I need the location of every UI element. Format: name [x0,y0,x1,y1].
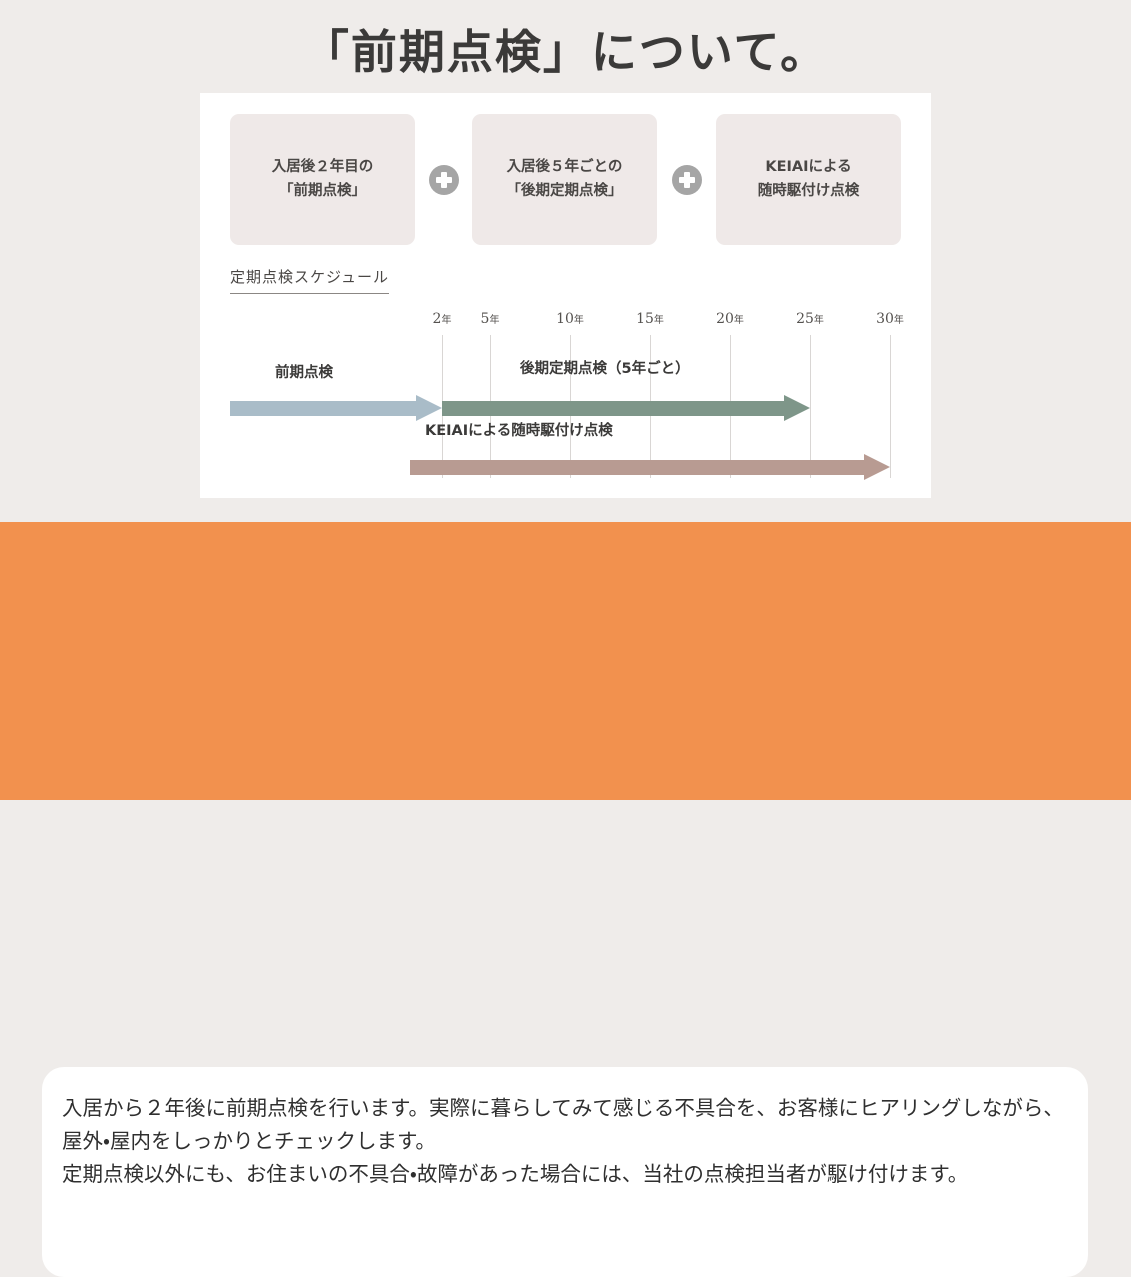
description-card: 入居から２年後に前期点検を行います。実際に暮らしてみて感じる不具合を、お客様にヒ… [42,1067,1088,1277]
schedule-timeline: 2年5年10年15年20年25年30年 前期点検後期定期点検（5年ごと）KEIA… [230,311,901,478]
page-title: 「前期点検」について。 [0,16,1131,82]
feature-box-row: 入居後２年目の 「前期点検」 入居後５年ごとの 「後期定期点検」 KEIAIによ… [230,114,901,245]
timeline-arrow [230,395,442,421]
feature-box-3-line2: 随時駆付け点検 [758,183,860,199]
diagram-panel: 入居後２年目の 「前期点検」 入居後５年ごとの 「後期定期点検」 KEIAIによ… [200,93,931,498]
plus-icon [672,165,702,195]
timeline-tick-label: 10年 [556,311,584,327]
timeline-tick-line [890,335,891,478]
feature-box-periodic-inspection: 入居後５年ごとの 「後期定期点検」 [472,114,657,245]
timeline-tick-label: 15年 [636,311,664,327]
feature-box-1-line1: 入居後２年目の [272,159,374,175]
arrow-shaft [410,460,864,475]
arrow-head [784,395,810,421]
description-band: 入居から２年後に前期点検を行います。実際に暮らしてみて感じる不具合を、お客様にヒ… [0,522,1131,800]
schedule-heading: 定期点検スケジュール [230,266,389,294]
arrow-head [416,395,442,421]
feature-box-1-line2: 「前期点検」 [279,183,366,199]
timeline-tick-label: 25年 [796,311,824,327]
feature-box-2-line2: 「後期定期点検」 [507,183,623,199]
timeline-arrow [442,395,810,421]
timeline-arrow-label: KEIAIによる随時駆付け点検 [425,419,613,440]
timeline-arrow [410,454,890,480]
arrow-shaft [230,401,416,416]
timeline-tick-label: 2年 [433,311,452,327]
feature-box-3-line1: KEIAIによる [765,159,851,175]
timeline-arrow-label: 後期定期点検（5年ごと） [520,357,690,378]
arrow-shaft [442,401,784,416]
timeline-tick-label: 30年 [876,311,904,327]
feature-box-2-line1: 入居後５年ごとの [507,159,623,175]
feature-box-oncall-inspection: KEIAIによる 随時駆付け点検 [716,114,901,245]
feature-box-early-inspection: 入居後２年目の 「前期点検」 [230,114,415,245]
arrow-head [864,454,890,480]
timeline-tick-label: 5年 [481,311,500,327]
description-paragraph-1: 入居から２年後に前期点検を行います。実際に暮らしてみて感じる不具合を、お客様にヒ… [62,1092,1072,1158]
timeline-arrow-label: 前期点検 [275,361,333,382]
description-paragraph-2: 定期点検以外にも、お住まいの不具合・故障があった場合には、当社の点検担当者が駆け… [62,1158,1072,1191]
timeline-tick-label: 20年 [716,311,744,327]
plus-icon [429,165,459,195]
